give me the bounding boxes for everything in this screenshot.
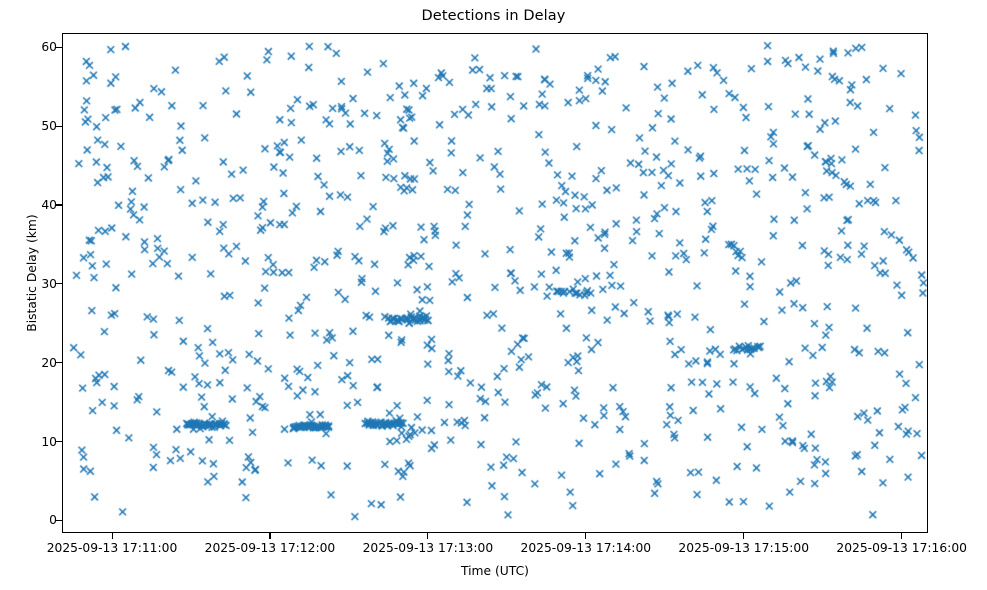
x-tick-label: 2025-09-13 17:11:00 <box>47 541 178 555</box>
x-tick-mark <box>427 533 428 539</box>
x-axis-label: Time (UTC) <box>62 564 928 578</box>
y-tick-mark <box>56 126 62 127</box>
x-tick-mark <box>112 533 113 539</box>
y-tick-mark <box>56 520 62 521</box>
figure: Detections in Delay Bistatic Delay (km) … <box>0 0 987 590</box>
y-tick-mark <box>56 441 62 442</box>
y-tick-label: 20 <box>0 356 57 370</box>
y-tick-label: 30 <box>0 277 57 291</box>
y-tick-mark <box>56 204 62 205</box>
y-tick-label: 60 <box>0 40 57 54</box>
x-tick-mark <box>269 533 270 539</box>
x-tick-mark <box>585 533 586 539</box>
chart-title: Detections in Delay <box>0 8 987 24</box>
x-tick-label: 2025-09-13 17:15:00 <box>678 541 809 555</box>
y-tick-mark <box>56 362 62 363</box>
x-tick-mark <box>743 533 744 539</box>
y-tick-label: 50 <box>0 119 57 133</box>
y-tick-label: 0 <box>0 513 57 527</box>
y-tick-label: 10 <box>0 435 57 449</box>
scatter-points-canvas <box>63 34 928 533</box>
y-tick-mark <box>56 47 62 48</box>
y-tick-mark <box>56 283 62 284</box>
x-tick-mark <box>901 533 902 539</box>
x-tick-label: 2025-09-13 17:16:00 <box>836 541 967 555</box>
plot-area <box>62 33 928 533</box>
x-tick-label: 2025-09-13 17:12:00 <box>205 541 336 555</box>
x-tick-label: 2025-09-13 17:13:00 <box>363 541 494 555</box>
y-tick-label: 40 <box>0 198 57 212</box>
x-tick-label: 2025-09-13 17:14:00 <box>520 541 651 555</box>
